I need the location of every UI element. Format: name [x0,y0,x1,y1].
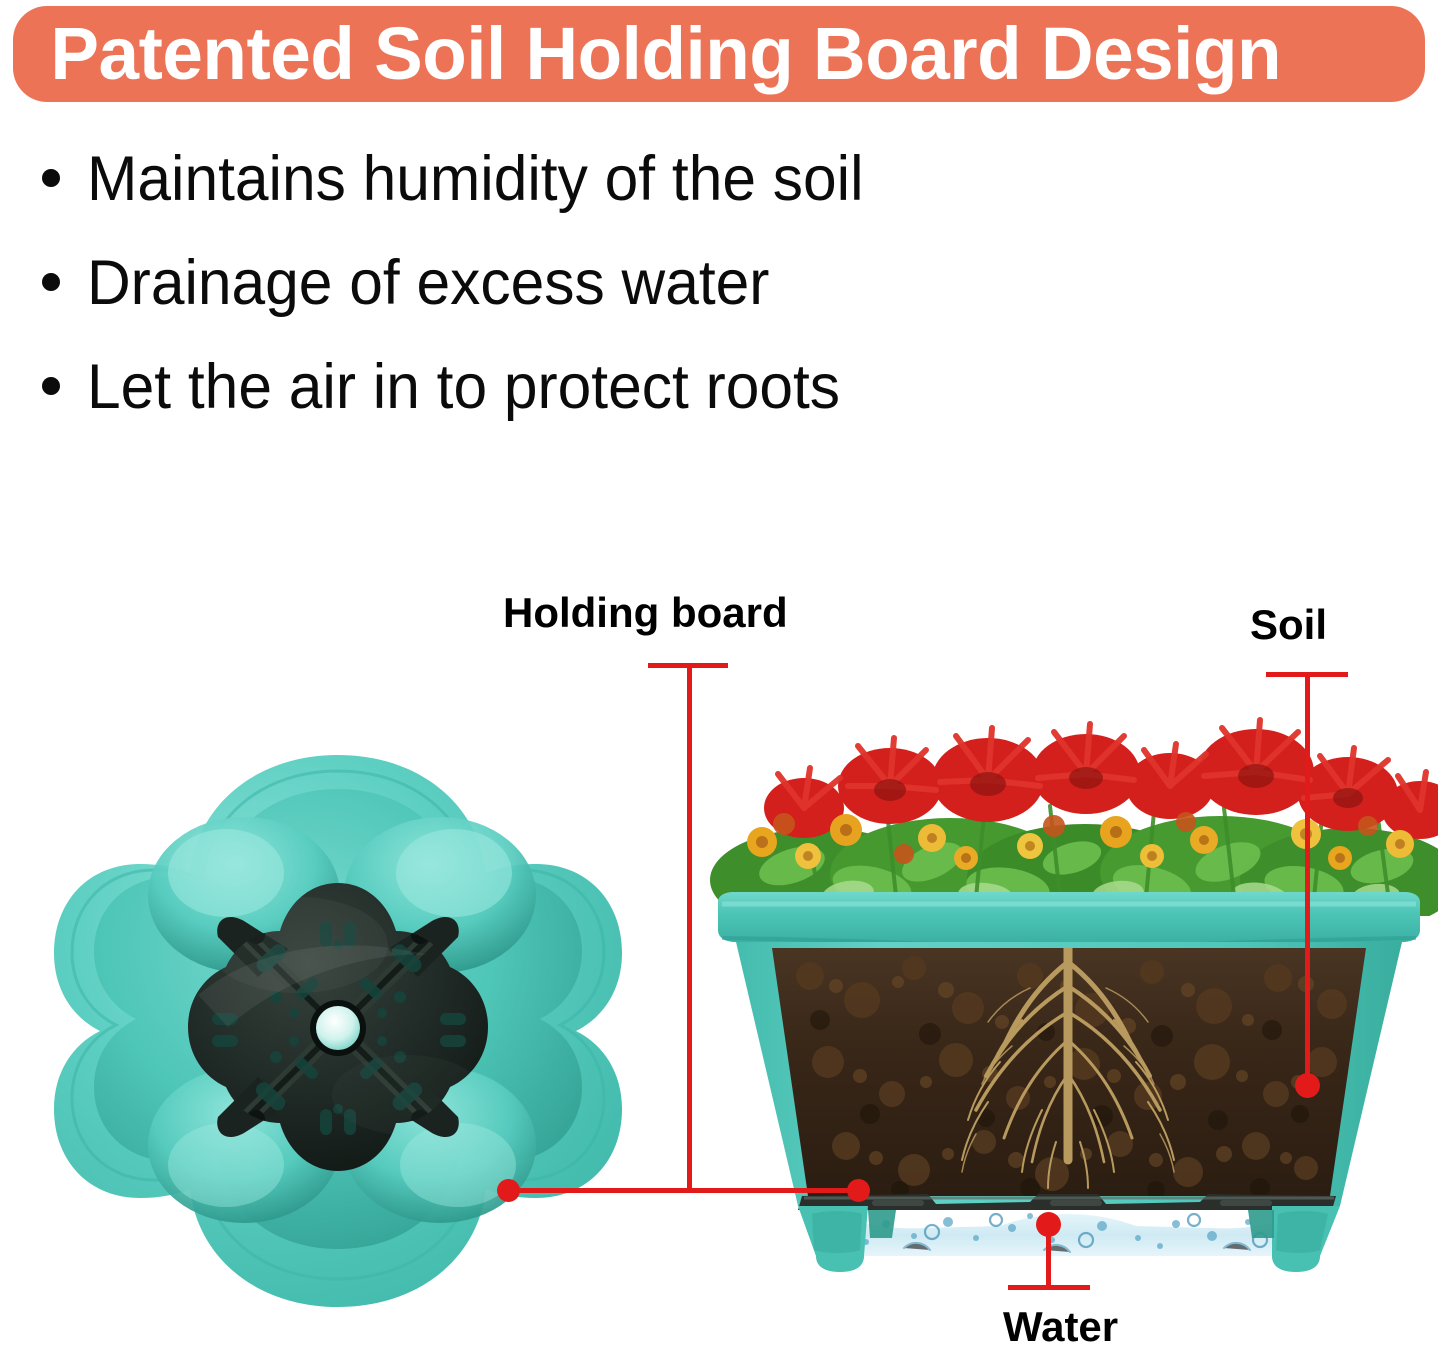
callout-dot-soil [1295,1073,1320,1098]
page-title: Patented Soil Holding Board Design [13,17,1281,91]
bullet-dot-icon [42,169,60,187]
bowl-highlight [168,829,284,917]
list-item: Maintains humidity of the soil [42,148,1142,252]
feature-text: Maintains humidity of the soil [87,148,864,211]
callout-label-holding-board: Holding board [503,592,788,634]
callout-line-holding-board-vertical [687,663,692,1190]
list-item: Drainage of excess water [42,252,1142,356]
bullet-dot-icon [42,377,60,395]
water-reservoir [828,1210,1308,1256]
callout-label-water: Water [1003,1306,1118,1348]
center-drain-hole [316,1006,360,1050]
soil-holding-board-cross-section [798,1194,1336,1210]
callout-dot-water [1036,1212,1061,1237]
list-item: Let the air in to protect roots [42,356,1142,460]
callout-dot-holding-board-left [497,1179,520,1202]
callout-line-soil-vertical [1305,672,1310,1083]
soil-holding-board [188,883,488,1171]
red-flowers [764,720,1438,839]
bowl-highlight [396,829,512,917]
product-image-top-down-planter [48,745,628,1365]
feature-bullet-list: Maintains humidity of the soil Drainage … [42,148,1142,460]
callout-label-soil: Soil [1250,604,1327,646]
header-banner: Patented Soil Holding Board Design [13,6,1425,102]
callout-dot-holding-board-right [847,1179,870,1202]
callout-line-holding-board-horizontal [507,1188,859,1193]
feature-text: Let the air in to protect roots [87,356,840,419]
feature-text: Drainage of excess water [87,252,769,315]
bullet-dot-icon [42,273,60,291]
